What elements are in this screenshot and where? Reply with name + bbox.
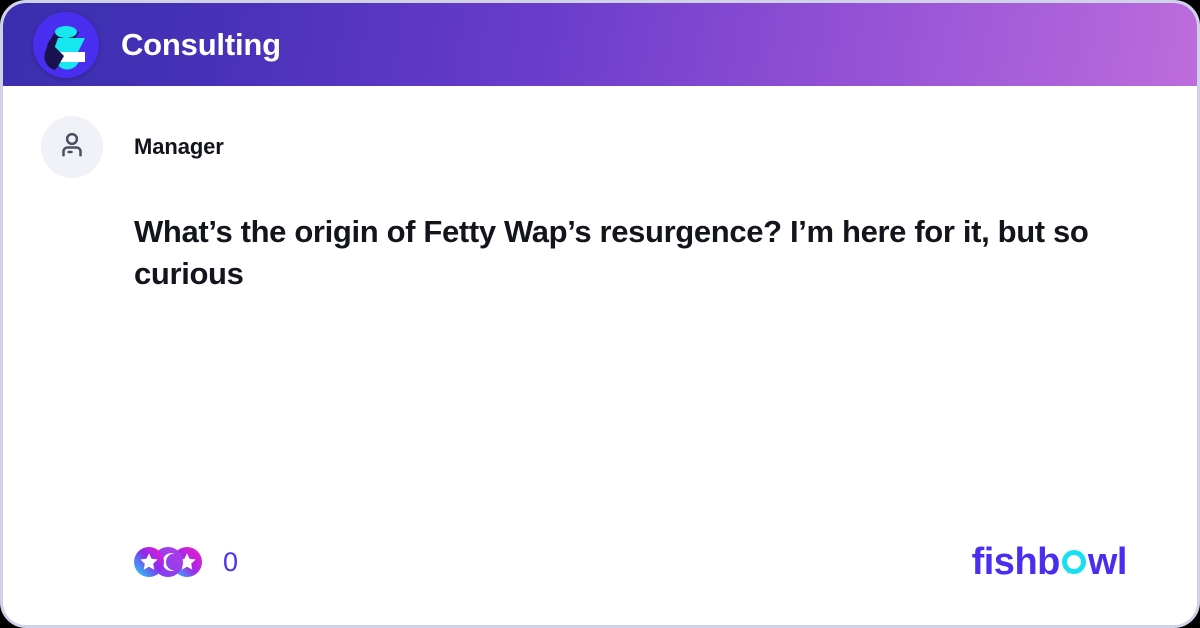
fishbowl-wordmark: fishb wl <box>972 543 1127 581</box>
author-row: Manager <box>3 86 1197 178</box>
card-header: Consulting <box>3 3 1197 86</box>
reactions[interactable]: 0 <box>134 547 238 577</box>
fishbowl-bowl-icon <box>33 12 99 78</box>
fishbowl-text-after: wl <box>1088 543 1127 581</box>
post-card: Consulting Manager What’s the origin of … <box>0 0 1200 628</box>
post-text: What’s the origin of Fetty Wap’s resurge… <box>134 211 1107 296</box>
fishbowl-o-ring-icon <box>1061 544 1087 570</box>
author-name: Manager <box>134 134 224 160</box>
star-reaction-icon[interactable] <box>134 547 164 577</box>
avatar <box>41 116 103 178</box>
card-body: Manager What’s the origin of Fetty Wap’s… <box>3 86 1197 625</box>
fishbowl-text-before: fishb <box>972 543 1060 581</box>
card-footer: 0 fishb wl <box>3 543 1197 625</box>
person-icon <box>57 130 87 165</box>
reaction-count: 0 <box>223 549 238 576</box>
reaction-icon-stack[interactable] <box>134 547 202 577</box>
header-title: Consulting <box>121 29 281 60</box>
